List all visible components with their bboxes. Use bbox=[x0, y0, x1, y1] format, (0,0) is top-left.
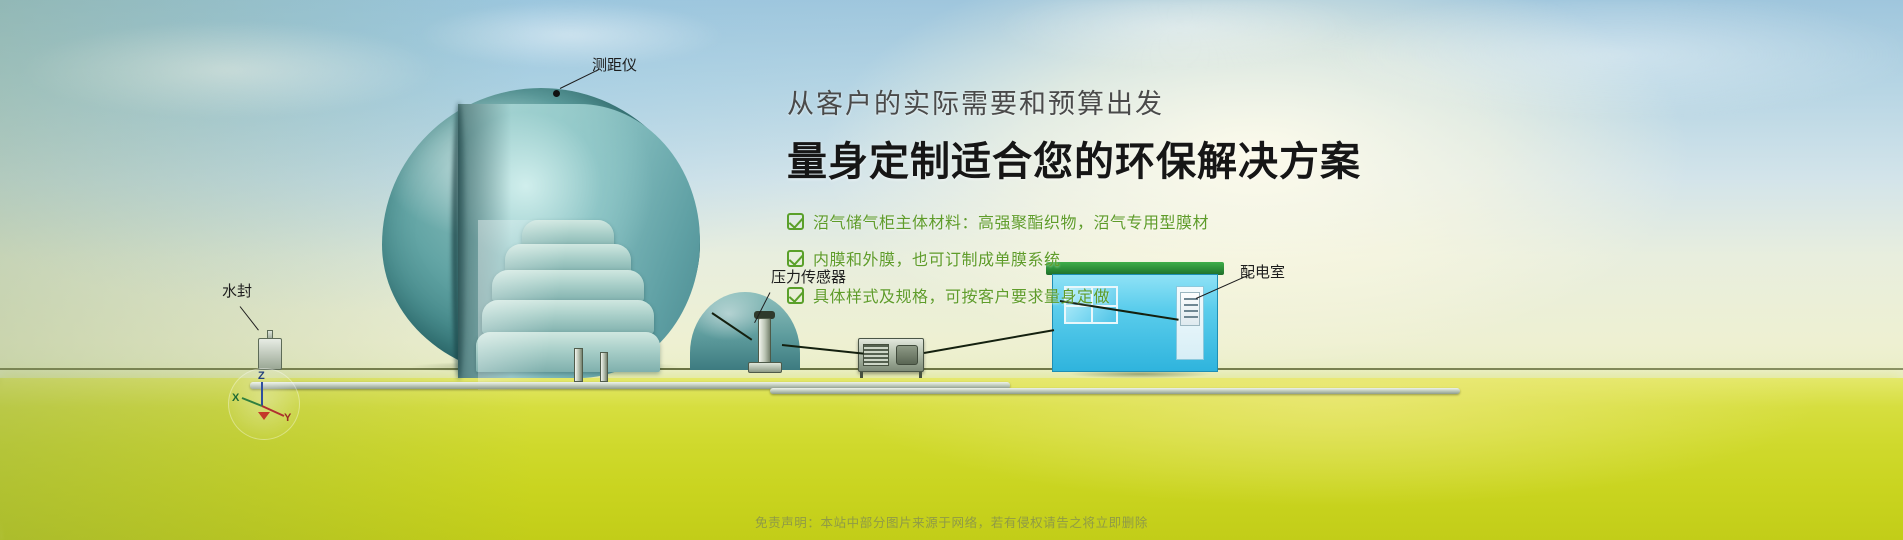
pressure-sensor-unit bbox=[748, 318, 782, 372]
pressure-sensor-base bbox=[748, 362, 782, 373]
vent-pipe-right bbox=[600, 352, 608, 382]
membrane-step-4 bbox=[482, 300, 654, 334]
feature-text: 具体样式及规格，可按客户要求量身定做 bbox=[813, 283, 1110, 307]
banner-copy: 从客户的实际需要和预算出发 量身定制适合您的环保解决方案 沼气储气柜主体材料：高… bbox=[787, 82, 1407, 320]
check-icon bbox=[787, 213, 804, 230]
gizmo-label-y: Y bbox=[284, 412, 291, 424]
disclaimer-text: 免责声明：本站中部分图片来源于网络，若有侵权请告之将立即删除 bbox=[0, 512, 1903, 531]
water-seal-unit bbox=[258, 330, 282, 370]
list-item: 沼气储气柜主体材料：高强聚酯织物，沼气专用型膜材 bbox=[787, 209, 1407, 233]
blower-motor bbox=[896, 345, 918, 365]
gizmo-label-z: Z bbox=[258, 370, 265, 382]
axis-gizmo: Z X Y bbox=[228, 368, 300, 440]
blower-legs bbox=[860, 372, 922, 378]
banner-stage: 测距仪 水封 压力传感器 配电室 Z X Y 从客户的实际需要和预算出发 量身定… bbox=[0, 0, 1903, 540]
feature-list: 沼气储气柜主体材料：高强聚酯织物，沼气专用型膜材 内膜和外膜，也可订制成单膜系统… bbox=[787, 209, 1407, 307]
gizmo-label-x: X bbox=[232, 392, 239, 404]
pressure-sensor-column bbox=[758, 318, 771, 364]
inner-membrane-stack bbox=[478, 220, 658, 390]
blower-unit bbox=[858, 338, 924, 372]
list-item: 具体样式及规格，可按客户要求量身定做 bbox=[787, 283, 1407, 307]
membrane-step-5 bbox=[476, 332, 660, 372]
vent-pipe-left bbox=[574, 348, 583, 382]
biogas-dome bbox=[382, 88, 700, 378]
label-rangefinder: 测距仪 bbox=[592, 58, 637, 73]
banner-title: 量身定制适合您的环保解决方案 bbox=[787, 129, 1407, 187]
check-icon bbox=[787, 250, 804, 267]
feature-text: 内膜和外膜，也可订制成单膜系统 bbox=[813, 246, 1061, 270]
feature-text: 沼气储气柜主体材料：高强聚酯织物，沼气专用型膜材 bbox=[813, 209, 1209, 233]
check-icon bbox=[787, 287, 804, 304]
rangefinder-dot bbox=[553, 90, 560, 97]
label-water-seal: 水封 bbox=[222, 284, 252, 299]
water-seal-body bbox=[258, 338, 282, 370]
banner-subtitle: 从客户的实际需要和预算出发 bbox=[787, 82, 1407, 121]
membrane-step-3 bbox=[492, 270, 644, 302]
dome-rim bbox=[452, 102, 466, 380]
list-item: 内膜和外膜，也可订制成单膜系统 bbox=[787, 246, 1407, 270]
secondary-pipe bbox=[770, 388, 1460, 394]
blower-grill bbox=[863, 344, 889, 366]
